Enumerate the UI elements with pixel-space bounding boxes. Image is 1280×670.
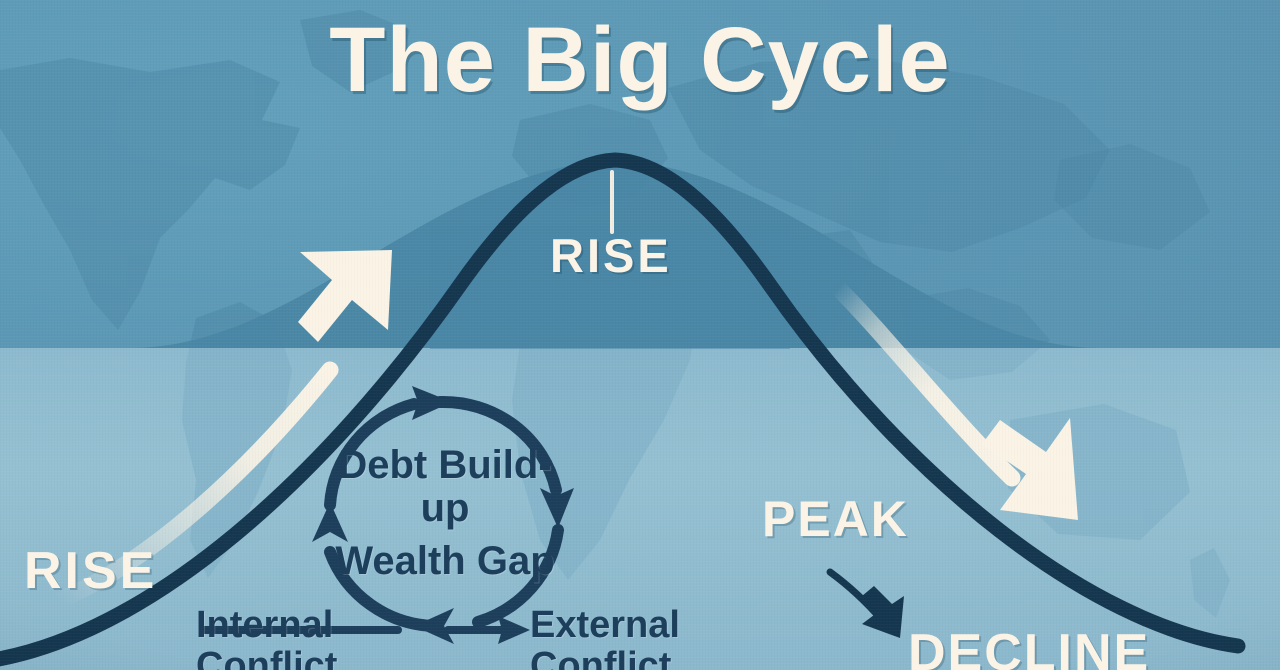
big-cycle-infographic: The Big Cycle RISE RISE PEAK DECLINE Deb… (0, 0, 1280, 670)
label-rise-left: RISE (24, 541, 157, 601)
page-title: The Big Cycle (0, 8, 1280, 113)
label-rise-peak: RISE (550, 228, 672, 283)
cycle-label-external-conflict: External Conflict (530, 605, 750, 670)
cycle-label-wealth-gap: Wealth Gap (330, 540, 560, 583)
peak-to-decline-arrow-icon (830, 572, 904, 638)
label-peak: PEAK (762, 490, 909, 548)
label-decline: DECLINE (908, 623, 1150, 670)
cycle-label-internal-conflict: Internal Conflict (196, 605, 406, 670)
cycle-label-debt-buildup: Debt Build-up (330, 444, 560, 530)
cycle-arrowhead-top (412, 386, 452, 420)
